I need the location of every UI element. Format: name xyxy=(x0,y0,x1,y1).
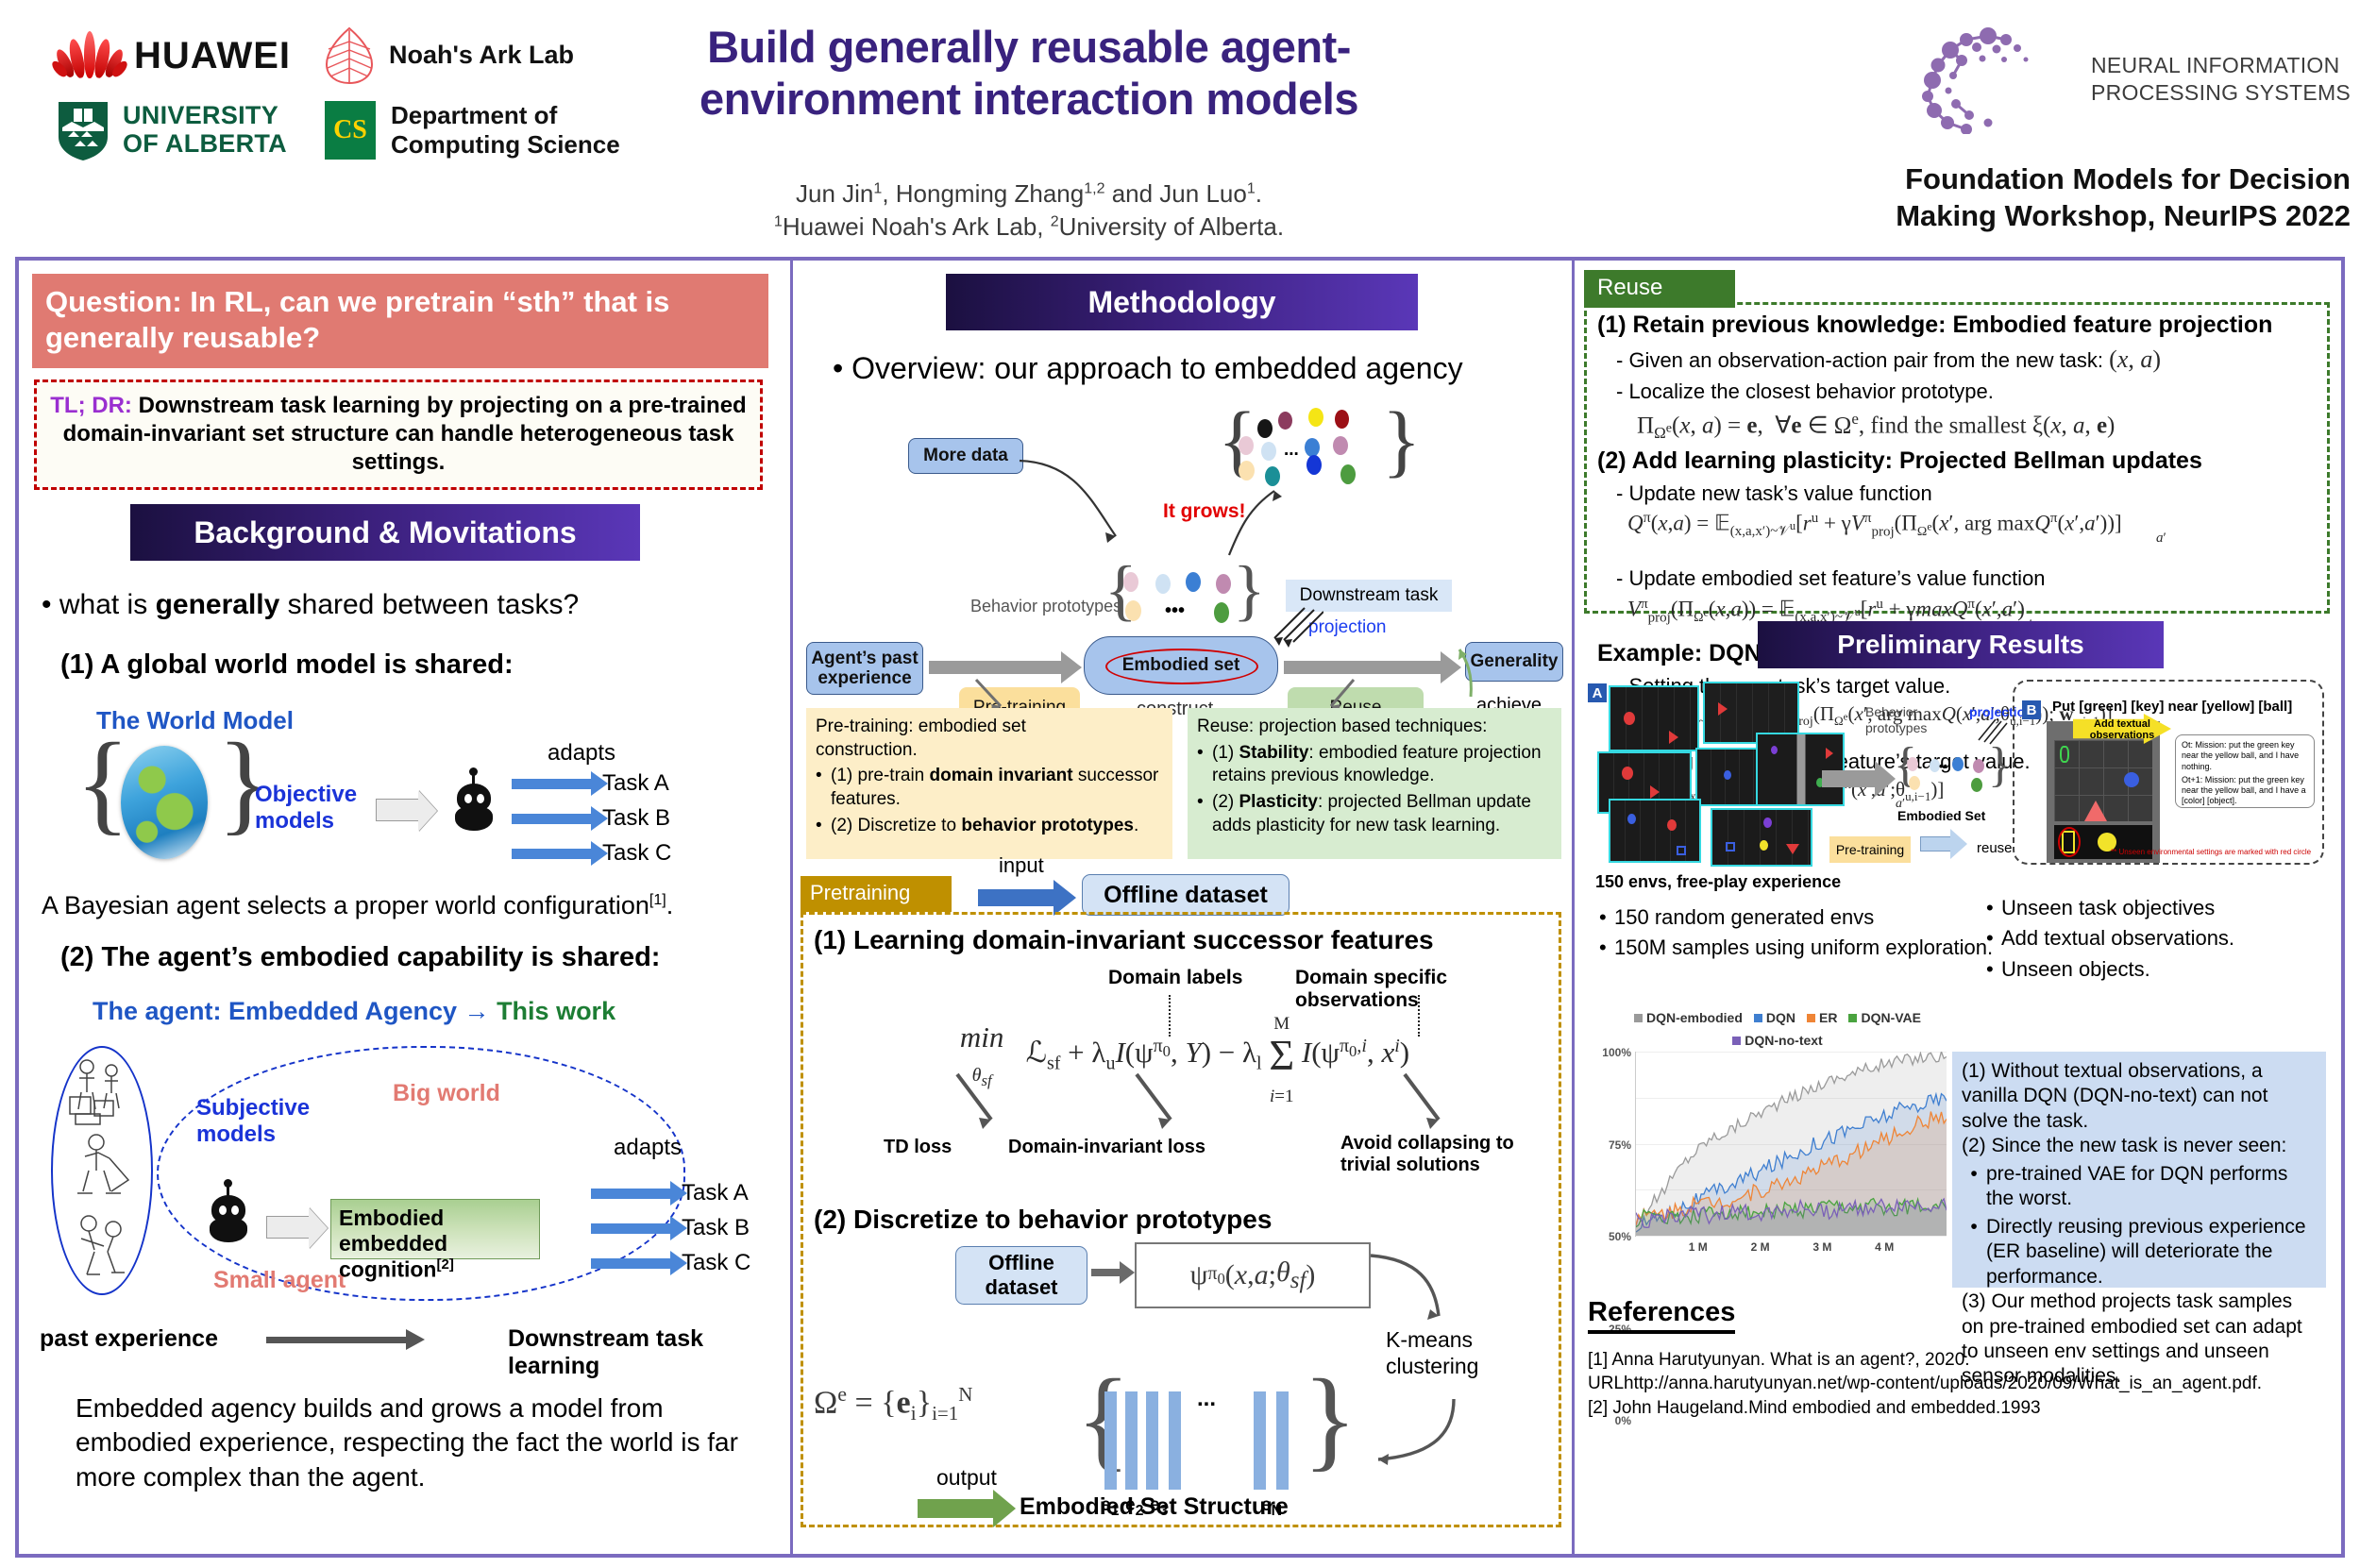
list-item: •Directly reusing previous experience (E… xyxy=(1962,1215,2317,1290)
findings-box: (1) Without textual observations, a vani… xyxy=(1952,1052,2326,1288)
embodied-set-equation: Ωe = {ei}i=1N xyxy=(814,1382,972,1425)
task-list-world: Task A Task B Task C xyxy=(512,772,671,865)
computing-science-logo-icon: CS xyxy=(325,101,376,160)
list-item: •150M samples using uniform exploration. xyxy=(1599,934,1993,961)
arrow-domain-loss xyxy=(1133,1071,1193,1133)
poster-body: Question: In RL, can we pretrain “sth” t… xyxy=(15,257,2345,1558)
arrow-from-kmeans xyxy=(1356,1393,1459,1478)
flow-arrow-icon xyxy=(1284,661,1441,674)
node-embodied-set: Embodied set xyxy=(1084,636,1278,695)
column-right: Reuse (1) Retain previous knowledge: Emb… xyxy=(1575,261,2340,1554)
robot-icon xyxy=(208,1189,249,1244)
bayesian-agent-line: A Bayesian agent selects a proper world … xyxy=(42,891,778,920)
input-arrow-icon xyxy=(978,889,1055,906)
input-label: input xyxy=(999,853,1044,878)
tldr-key: TL; DR: xyxy=(50,393,132,418)
preliminary-results-banner: Preliminary Results xyxy=(1758,621,2164,668)
flow-arrow-head-icon xyxy=(1061,651,1082,683)
panel-tag-b: B xyxy=(2022,700,2041,719)
node-more-data: More data xyxy=(908,438,1023,474)
heading-retain-knowledge: (1) Retain previous knowledge: Embodied … xyxy=(1597,312,2272,339)
flow-arrow-head-icon xyxy=(1875,761,1896,797)
experiment-caption-left: 150 envs, free-play experience xyxy=(1595,872,1841,892)
background-bullet: • what is generally shared between tasks… xyxy=(42,589,768,621)
adapts-label: adapts xyxy=(548,740,615,767)
prototype-bar xyxy=(1276,1391,1289,1490)
unseen-settings-note: ** Unseen environmental settings are mar… xyxy=(2111,848,2311,856)
university-of-alberta-logo-icon xyxy=(55,99,111,161)
background-banner: Background & Movitations xyxy=(130,504,640,561)
references-list: [1] Anna Harutyunyan. What is an agent?,… xyxy=(1588,1348,2324,1420)
past-experience-label: past experience xyxy=(40,1325,218,1353)
prototype-bar xyxy=(1104,1391,1117,1490)
achieve-arrow-icon xyxy=(1448,642,1486,700)
overview-bullet: • Overview: our approach to embedded age… xyxy=(833,351,1463,386)
arrow-avoid-collapse xyxy=(1401,1071,1461,1133)
left-brace: { xyxy=(1076,1378,1131,1459)
domain-labels-annotation: Domain labels xyxy=(1108,967,1242,989)
reuse-info-box: Reuse: projection based techniques: • (1… xyxy=(1188,708,1561,859)
neurips-wordmark: NEURAL INFORMATION PROCESSING SYSTEMS xyxy=(2091,52,2351,107)
arrow-td-loss xyxy=(953,1071,1014,1133)
flow-arrow-icon xyxy=(929,661,1061,674)
list-item: •Unseen task objectives xyxy=(1986,894,2234,921)
x-axis-tick: 4 M xyxy=(1875,1240,1894,1254)
pretraining-chip: Pre-training xyxy=(1829,836,1911,863)
results-bullets-left: •150 random generated envs •150M samples… xyxy=(1599,901,1993,962)
embedded-agency-label: The agent: Embedded Agency → This work xyxy=(93,997,615,1026)
env-screenshot xyxy=(1609,685,1699,751)
callout-line-2: Ot+1: Mission: put the green key near th… xyxy=(2182,775,2308,807)
offline-dataset-node: Offline dataset xyxy=(1082,874,1290,916)
robot-icon xyxy=(453,778,495,833)
reuse-arrow-head-icon xyxy=(1950,829,1967,859)
world-model-figure: { } Objective models adapts Task A T xyxy=(76,744,765,867)
column-middle: Methodology • Overview: our approach to … xyxy=(793,261,1575,1554)
legend-swatch xyxy=(1807,1014,1815,1022)
y-axis-tick: 100% xyxy=(1602,1046,1631,1059)
column-left: Question: In RL, can we pretrain “sth” t… xyxy=(19,261,793,1554)
big-world-label: Big world xyxy=(393,1080,500,1107)
list-item: • (1) pre-train domain invariant success… xyxy=(816,765,1163,811)
node-agent-past-experience: Agent’s pastexperience xyxy=(806,642,923,695)
kmeans-clustering-label: K-means clustering xyxy=(1386,1327,1478,1379)
objective-models-label: Objective models xyxy=(255,782,357,834)
minigrid-env xyxy=(2047,721,2160,863)
flow-arrow-icon xyxy=(1822,770,1877,787)
question-banner: Question: In RL, can we pretrain “sth” t… xyxy=(32,274,768,368)
noahs-ark-lab-logo-icon xyxy=(323,26,376,85)
references-heading: References xyxy=(1588,1297,1735,1334)
finding-2: (2) Since the new task is never seen: xyxy=(1962,1134,2317,1158)
heading-embodied-capability: (2) The agent’s embodied capability is s… xyxy=(60,942,660,973)
list-item: •150 random generated envs xyxy=(1599,903,1993,931)
legend-label: ER xyxy=(1819,1010,1837,1025)
flow-arrow-icon xyxy=(266,1337,408,1343)
tldr-box: TL; DR: Downstream task learning by proj… xyxy=(34,379,763,490)
x-axis-tick: 2 M xyxy=(1751,1240,1770,1254)
embedded-agency-figure: Subjective models Big world Small agent … xyxy=(36,1040,782,1324)
prototype-bar xyxy=(1146,1391,1158,1490)
behavior-prototypes-label: Behavior prototypes xyxy=(1865,704,1927,736)
legend-swatch xyxy=(1848,1014,1857,1022)
legend-item: DQN-VAE xyxy=(1848,1010,1921,1025)
blue-arrow-icon xyxy=(591,1258,672,1269)
mission-text: Put [green] [key] near [yellow] [ball] xyxy=(2052,699,2292,715)
small-agent-label: Small agent xyxy=(213,1267,346,1294)
huawei-logo-icon xyxy=(55,31,125,80)
reference-item: URLhttp://anna.harutyunyan.net/wp-conten… xyxy=(1588,1372,2324,1395)
legend-item: DQN-no-text xyxy=(1732,1033,1822,1048)
x-axis-tick: 3 M xyxy=(1812,1240,1831,1254)
heading-learning-successor-features: (1) Learning domain-invariant successor … xyxy=(814,925,1434,955)
tldr-text: Downstream task learning by projecting o… xyxy=(63,393,747,475)
heading-global-world-model: (1) A global world model is shared: xyxy=(60,649,514,681)
chart-plot-area: 0%25%50%75%100%1 M2 M3 M4 M xyxy=(1635,1052,1947,1237)
blue-arrow-icon xyxy=(591,1223,672,1234)
list-item: • (2) Plasticity: projected Bellman upda… xyxy=(1197,791,1552,837)
methodology-banner: Methodology xyxy=(946,274,1418,330)
task-list-agent: Task A Task B Task C xyxy=(591,1182,750,1274)
chart-series-layer xyxy=(1636,1052,1947,1236)
retain-bullet-2: - Localize the closest behavior prototyp… xyxy=(1616,379,1994,404)
projection-arrows-icon xyxy=(1967,717,2009,750)
grey-arrow-icon xyxy=(266,1216,312,1239)
flow-arrow-icon xyxy=(1091,1269,1121,1276)
overview-diagram: { } ... More data It gro xyxy=(801,412,1567,695)
gridline: 0% xyxy=(1636,1236,1947,1237)
legend-label: DQN xyxy=(1766,1010,1795,1025)
heading-learning-plasticity: (2) Add learning plasticity: Projected B… xyxy=(1597,447,2202,475)
offline-dataset-node-2: Offlinedataset xyxy=(955,1246,1087,1305)
legend-swatch xyxy=(1634,1014,1643,1022)
reference-item: [1] Anna Harutyunyan. What is an agent?,… xyxy=(1588,1348,2324,1372)
prototype-bar xyxy=(1169,1391,1181,1490)
authors-line: Jun Jin1, Hongming Zhang1,2 and Jun Luo1… xyxy=(585,177,1473,244)
blue-arrow-icon xyxy=(512,849,593,859)
page-title: Build generally reusable agent-environme… xyxy=(585,21,1473,126)
arrow-to-kmeans xyxy=(1367,1248,1458,1333)
list-item: •Unseen objects. xyxy=(1986,955,2234,983)
reuse-label: reuse xyxy=(1977,840,2013,856)
domain-invariant-loss-annotation: Domain-invariant loss xyxy=(1008,1137,1205,1158)
plasticity-bullet-1: - Update new task’s value function xyxy=(1616,481,1932,506)
poster-header: HUAWEI Noah's Ark Lab UNIVERSITY OF ALBE… xyxy=(0,0,2360,257)
env-screenshot xyxy=(1756,733,1845,806)
adapts-label: adapts xyxy=(614,1135,682,1161)
workshop-title: Foundation Models for Decision Making Wo… xyxy=(1822,160,2351,234)
arrow-it-grows xyxy=(1212,470,1297,559)
embodied-set-label: Embodied Set xyxy=(1897,808,1985,823)
results-chart: DQN-embodiedDQNERDQN-VAEDQN-no-text 0%25… xyxy=(1593,1006,1962,1261)
grey-arrow-icon xyxy=(376,799,421,821)
y-axis-tick: 75% xyxy=(1609,1138,1631,1152)
blue-arrow-icon xyxy=(591,1189,672,1199)
projection-equation: ΠΩe(x, a) = e, ∀e ∈ Ωe, find the smalles… xyxy=(1637,410,2115,443)
callout-line-1: Ot: Mission: put the green key near the … xyxy=(2182,740,2308,772)
legend-swatch xyxy=(1754,1014,1762,1022)
sketch-hockey-icon xyxy=(62,1131,142,1205)
university-of-alberta-label: UNIVERSITY OF ALBERTA xyxy=(123,102,287,158)
env-screenshot xyxy=(1609,799,1701,863)
list-item: •pre-trained VAE for DQN performs the wo… xyxy=(1962,1162,2317,1212)
behavior-prototypes-label: Behavior prototypes xyxy=(970,597,1121,616)
prototype-bar xyxy=(1125,1391,1138,1490)
output-arrow-icon xyxy=(918,1499,995,1518)
globe-icon xyxy=(121,746,208,859)
experiment-figure: A xyxy=(1586,680,2330,865)
x-axis-tick: 1 M xyxy=(1689,1240,1708,1254)
legend-label: DQN-embodied xyxy=(1646,1010,1743,1025)
noahs-ark-lab-label: Noah's Ark Lab xyxy=(389,41,574,70)
pretraining-tab: Pretraining xyxy=(801,876,952,912)
subjective-models-label: Subjective models xyxy=(196,1095,310,1147)
logo-row-top: HUAWEI Noah's Ark Lab xyxy=(55,26,574,85)
q-update-equation: Qπ(x,a) = 𝔼(x,a,x′)~𝒱u[ru + γVπproj(ΠΩe(… xyxy=(1627,510,2122,540)
plasticity-bullet-2: - Update embodied set feature’s value fu… xyxy=(1616,566,2046,591)
chart-legend: DQN-embodiedDQNERDQN-VAEDQN-no-text xyxy=(1593,1006,1962,1048)
sketch-wrestling-icon xyxy=(62,1210,142,1282)
downstream-task-learning-label: Downstream task learning xyxy=(508,1325,790,1380)
reuse-arrow-icon xyxy=(1920,836,1952,851)
legend-label: DQN-VAE xyxy=(1861,1010,1921,1025)
td-loss-annotation: TD loss xyxy=(884,1137,952,1158)
legend-swatch xyxy=(1732,1037,1741,1045)
legend-item: DQN xyxy=(1754,1010,1795,1025)
observation-callout-box: Ot: Mission: put the green key near the … xyxy=(2175,734,2315,808)
neurips-logo-icon xyxy=(1907,21,2086,134)
legend-item: DQN-embodied xyxy=(1634,1010,1743,1025)
avoid-collapse-annotation: Avoid collapsing to trivial solutions xyxy=(1340,1133,1514,1176)
list-item: •Add textual observations. xyxy=(1986,924,2234,952)
panel-tag-a: A xyxy=(1588,683,1607,702)
logo-row-bottom: UNIVERSITY OF ALBERTA CS Department of C… xyxy=(55,99,620,161)
arrow-more-data xyxy=(1018,455,1135,559)
finding-1: (1) Without textual observations, a vani… xyxy=(1962,1059,2317,1134)
y-axis-tick: 50% xyxy=(1609,1230,1631,1243)
huawei-wordmark: HUAWEI xyxy=(134,35,291,77)
results-bullets-right: •Unseen task objectives •Add textual obs… xyxy=(1986,891,2234,983)
behavior-prototype-set: { } ••• xyxy=(1112,570,1254,638)
list-item: • (2) Discretize to behavior prototypes. xyxy=(816,815,1163,838)
legend-label: DQN-no-text xyxy=(1745,1033,1822,1048)
right-brace: } xyxy=(1303,1378,1357,1459)
blue-arrow-icon xyxy=(512,814,593,824)
pretraining-info-box: Pre-training: embodied set construction.… xyxy=(806,708,1172,859)
heading-discretize: (2) Discretize to behavior prototypes xyxy=(814,1205,1272,1235)
prototype-bar xyxy=(1254,1391,1266,1490)
embodied-set-dots: { } •• xyxy=(1897,755,2001,801)
output-label: output xyxy=(936,1465,997,1491)
ellipsis: ... xyxy=(1197,1386,1216,1412)
successor-feature-equation-box: ψπ0(x, a; θsf) xyxy=(1135,1242,1371,1308)
legend-item: ER xyxy=(1807,1010,1837,1025)
retain-bullet-1: - Given an observation-action pair from … xyxy=(1616,346,2161,374)
sketch-workers-icon xyxy=(62,1055,142,1125)
reference-item: [2] John Haugeland.Mind embodied and emb… xyxy=(1588,1396,2324,1420)
list-item: • (1) Stability: embodied feature projec… xyxy=(1197,742,1552,788)
closing-paragraph: Embedded agency builds and grows a model… xyxy=(76,1391,774,1494)
embodied-set-structure-label: Embodied Set Structure xyxy=(1020,1493,1289,1521)
env-screenshot xyxy=(1711,808,1812,867)
authors-names: Jun Jin1, Hongming Zhang1,2 and Jun Luo1… xyxy=(585,177,1473,211)
blue-arrow-icon xyxy=(512,779,593,789)
authors-affiliations: 1Huawei Noah's Ark Lab, 2University of A… xyxy=(585,211,1473,244)
embodied-embedded-cognition-box: Embodied embedded cognition[2] xyxy=(330,1199,540,1259)
flow-arrow-head-icon xyxy=(1120,1261,1135,1284)
